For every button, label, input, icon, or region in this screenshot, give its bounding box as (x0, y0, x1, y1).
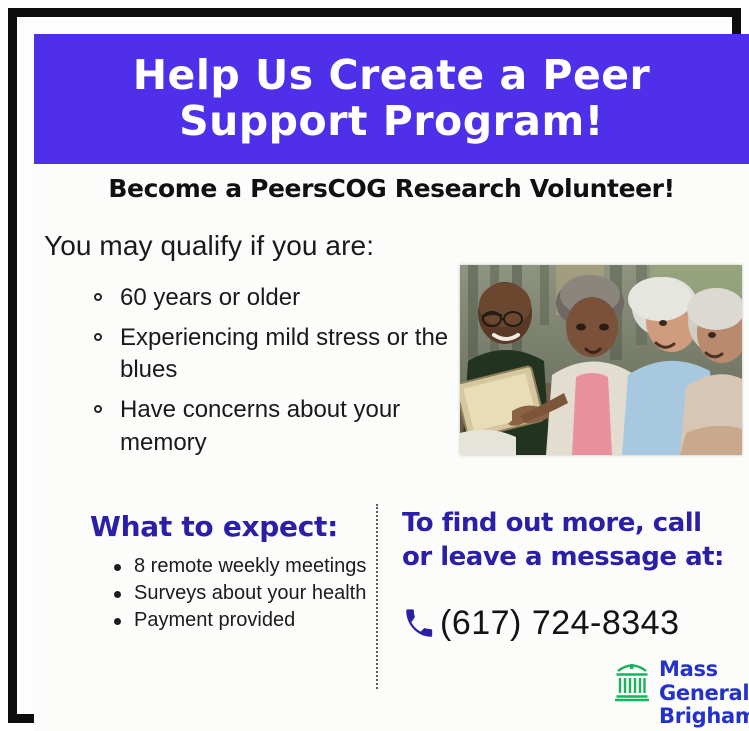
contact-heading-line-1: To find out more, call (402, 507, 742, 541)
contact-heading-line-2: or leave a message at: (402, 541, 742, 575)
flyer-poster: Help Us Create a Peer Support Program! B… (0, 0, 749, 731)
seniors-photo (460, 265, 742, 455)
logo-wordmark: Mass General Brigham (659, 658, 749, 729)
header-title-line-2: Support Program! (179, 99, 604, 145)
expect-item-label: 8 remote weekly meetings (134, 555, 366, 577)
list-item: 8 remote weekly meetings (112, 554, 372, 579)
list-item: Experiencing mild stress or the blues (90, 322, 460, 386)
logo-line-2: General (659, 682, 749, 706)
qualify-item-label: Experiencing mild stress or the blues (120, 324, 448, 383)
solid-bullet-icon (114, 591, 121, 598)
contact-heading: To find out more, call or leave a messag… (402, 507, 742, 575)
header-title-line-1: Help Us Create a Peer (133, 53, 651, 99)
qualify-item-label: Have concerns about your memory (120, 396, 400, 455)
list-item: 60 years or older (90, 282, 460, 314)
hollow-bullet-icon (94, 333, 102, 341)
qualify-intro: You may qualify if you are: (44, 230, 374, 262)
photo-illustration (460, 265, 742, 455)
logo-line-3: Brigham (659, 705, 749, 729)
hollow-bullet-icon (94, 405, 102, 413)
logo-line-1: Mass (659, 658, 749, 682)
sub-headline: Become a PeersCOG Research Volunteer! (34, 174, 749, 203)
expect-item-label: Surveys about your health (134, 582, 366, 604)
expect-heading: What to expect: (90, 510, 338, 543)
list-item: Have concerns about your memory (90, 394, 460, 458)
qualify-item-label: 60 years or older (120, 284, 300, 311)
solid-bullet-icon (114, 618, 121, 625)
solid-bullet-icon (114, 564, 121, 571)
hollow-bullet-icon (94, 293, 102, 301)
header-banner: Help Us Create a Peer Support Program! (34, 34, 749, 164)
list-item: Surveys about your health (112, 581, 372, 606)
phone-number[interactable]: (617) 724-8343 (440, 604, 680, 643)
building-dome-icon (614, 658, 650, 702)
poster-content: Help Us Create a Peer Support Program! B… (34, 34, 749, 731)
qualify-list: 60 years or older Experiencing mild stre… (90, 282, 460, 467)
phone-handset-icon (402, 607, 436, 641)
mass-general-brigham-logo: Mass General Brigham (614, 658, 749, 729)
column-divider (376, 504, 378, 689)
expect-list: 8 remote weekly meetings Surveys about y… (112, 554, 372, 636)
poster-frame: Help Us Create a Peer Support Program! B… (8, 8, 741, 723)
expect-item-label: Payment provided (134, 609, 295, 631)
phone-row[interactable]: (617) 724-8343 (402, 604, 680, 643)
list-item: Payment provided (112, 608, 372, 633)
